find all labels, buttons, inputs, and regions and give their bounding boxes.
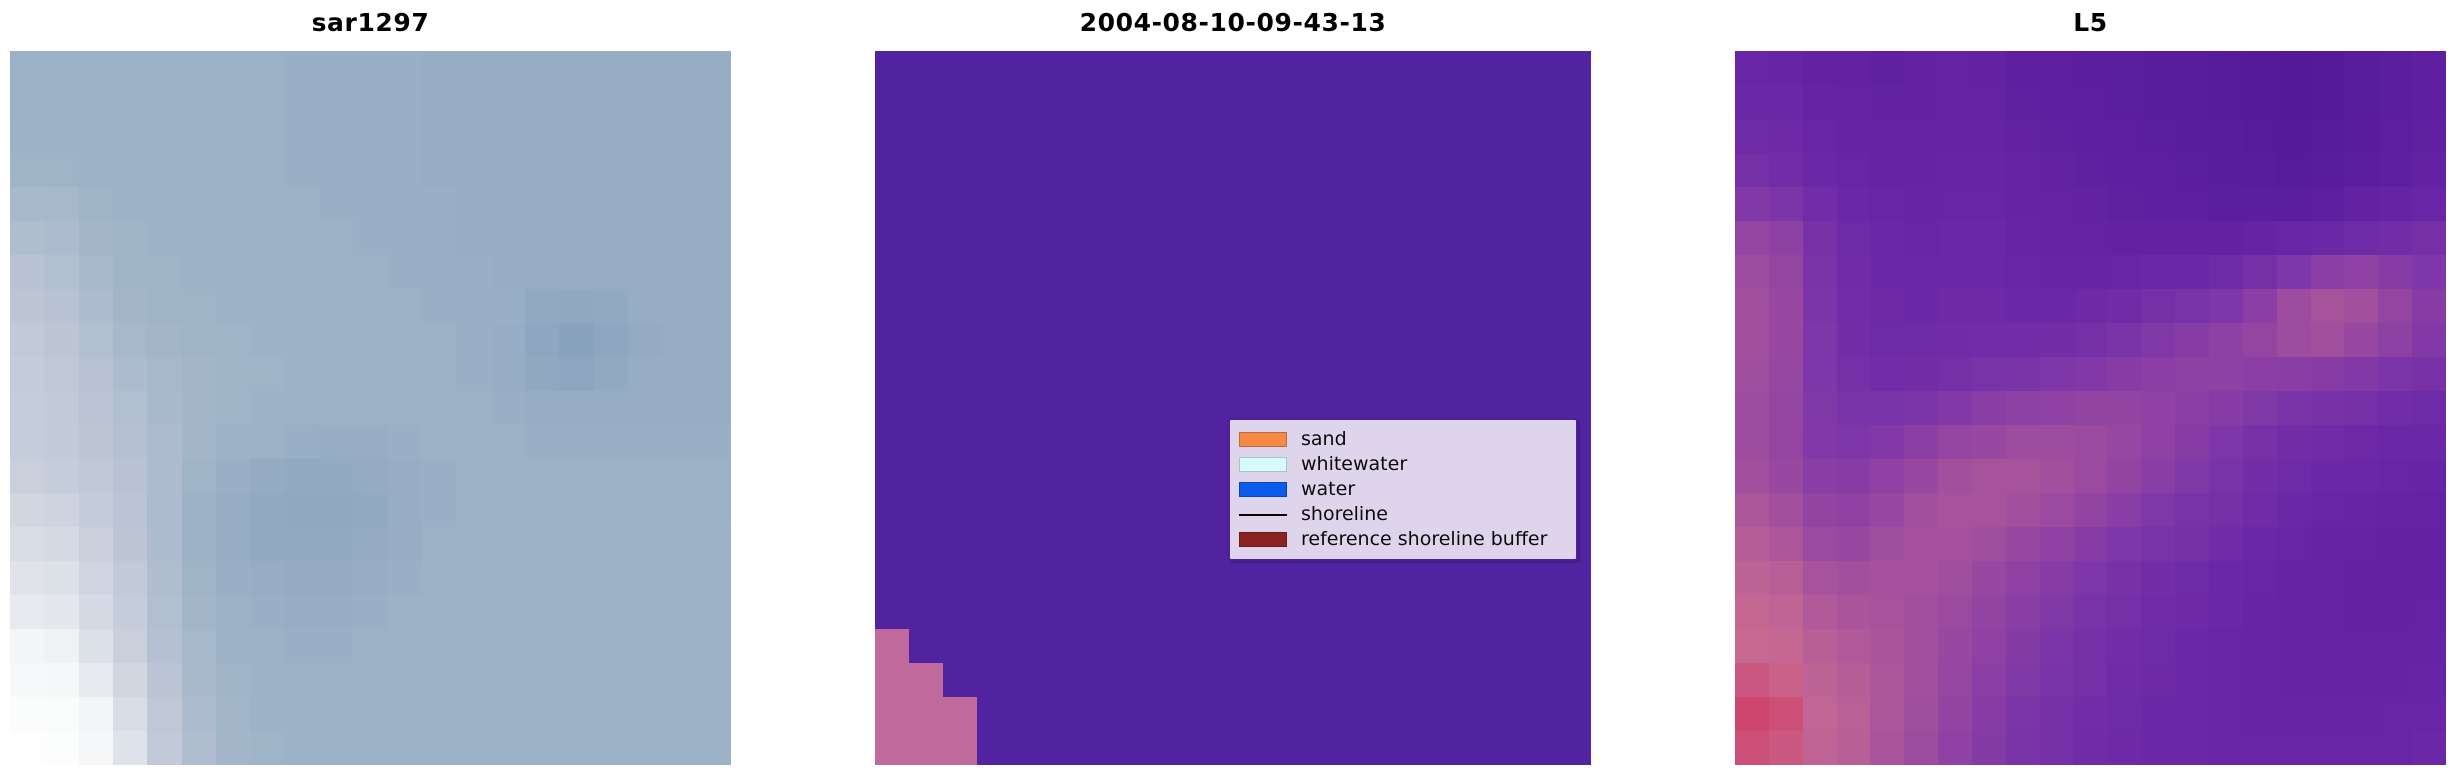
panel-image-classification[interactable]	[875, 51, 1591, 765]
panel-title-l5: L5	[1735, 8, 2446, 38]
legend-label-whitewater: whitewater	[1301, 454, 1407, 475]
panel-image-sar[interactable]	[10, 51, 731, 765]
legend-swatch-whitewater	[1239, 457, 1287, 472]
legend-swatch-water	[1239, 482, 1287, 497]
panel-image-l5[interactable]	[1735, 51, 2446, 765]
legend-label-water: water	[1301, 479, 1355, 500]
legend-item-shoreline[interactable]: shoreline	[1239, 502, 1568, 527]
raster-sar	[10, 51, 731, 765]
legend-swatch-sand	[1239, 432, 1287, 447]
raster-classification	[875, 51, 1591, 765]
legend-label-shoreline: shoreline	[1301, 504, 1388, 525]
legend-label-reference-shoreline-buffer: reference shoreline buffer	[1301, 529, 1547, 550]
legend-item-reference-shoreline-buffer[interactable]: reference shoreline buffer	[1239, 527, 1568, 552]
legend-item-sand[interactable]: sand	[1239, 427, 1568, 452]
panel-title-classification: 2004-08-10-09-43-13	[875, 8, 1591, 38]
legend-box: sand whitewater water shoreline referenc…	[1228, 418, 1578, 561]
legend-swatch-reference-shoreline-buffer	[1239, 532, 1287, 547]
legend-item-whitewater[interactable]: whitewater	[1239, 452, 1568, 477]
figure-canvas: sar1297 2004-08-10-09-43-13 L5 sand whit…	[0, 0, 2460, 783]
panel-title-sar: sar1297	[10, 8, 731, 38]
legend-label-sand: sand	[1301, 429, 1347, 450]
legend-line-shoreline	[1239, 507, 1287, 522]
legend-item-water[interactable]: water	[1239, 477, 1568, 502]
raster-l5	[1735, 51, 2446, 765]
